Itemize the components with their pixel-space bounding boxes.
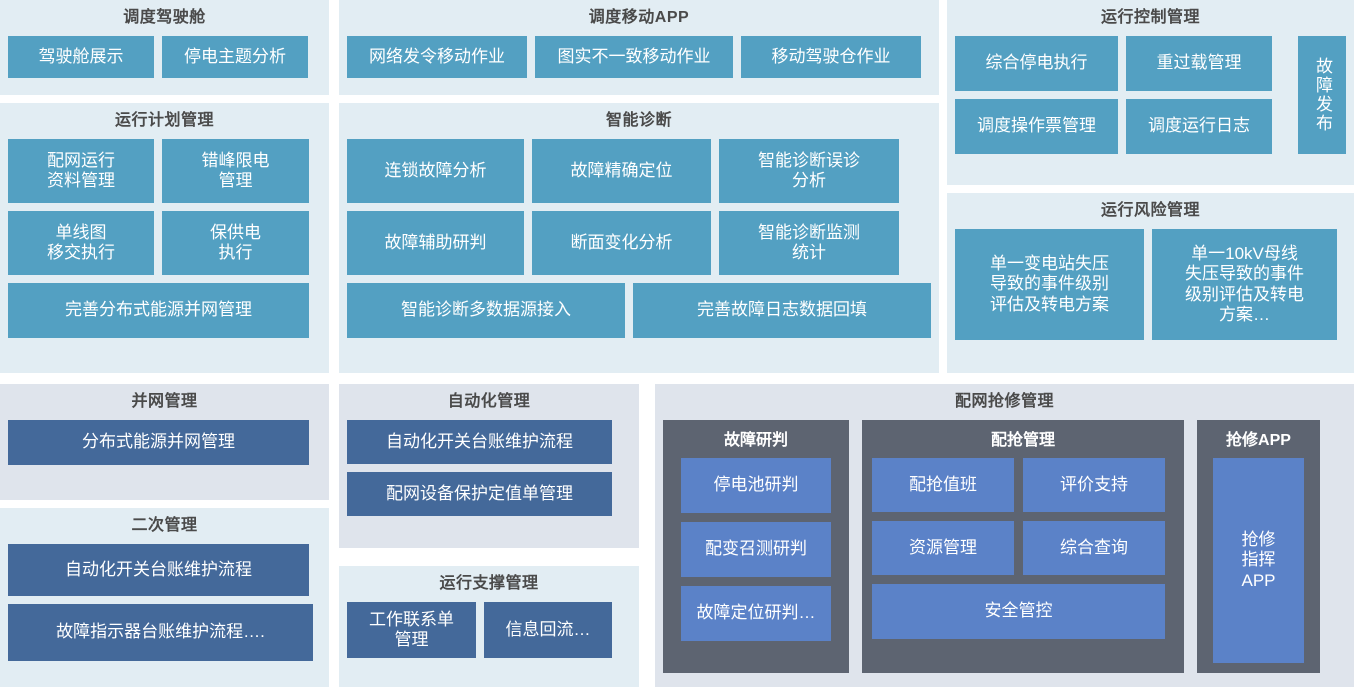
tile-guaranteed-power-execution[interactable]: 保供电 执行 bbox=[162, 211, 309, 275]
tile-precise-fault-location[interactable]: 故障精确定位 bbox=[532, 139, 711, 203]
panel-mobile-app: 调度移动APP 网络发令移动作业 图实不一致移动作业 移动驾驶仓作业 bbox=[339, 0, 939, 95]
tile-diagnosis-monitor-statistics[interactable]: 智能诊断监测 统计 bbox=[719, 211, 899, 275]
tile-automation-switch-ledger-flow[interactable]: 自动化开关台账维护流程 bbox=[8, 544, 309, 596]
tile-distributed-energy-grid-mgmt[interactable]: 分布式能源并网管理 bbox=[8, 420, 309, 465]
tile-row: 智能诊断多数据源接入 完善故障日志数据回填 bbox=[347, 283, 931, 338]
panel-distribution-repair: 配网抢修管理 故障研判 停电池研判 配变召测研判 故障定位研判… 配抢管理 配抢… bbox=[655, 384, 1354, 687]
panel-title-cockpit: 调度驾驶舱 bbox=[8, 6, 321, 30]
panel-title-operation-plan: 运行计划管理 bbox=[8, 109, 321, 133]
tile-info-backflow[interactable]: 信息回流… bbox=[484, 602, 612, 658]
tile-misdiagnosis-analysis[interactable]: 智能诊断误诊 分析 bbox=[719, 139, 899, 203]
panel-secondary-management: 二次管理 自动化开关台账维护流程 故障指示器台账维护流程…. bbox=[0, 508, 329, 687]
tile-work-contact-sheet-mgmt[interactable]: 工作联系单 管理 bbox=[347, 602, 476, 658]
tile-row: 配网运行 资料管理 错峰限电 管理 bbox=[8, 139, 321, 203]
panel-smart-diagnosis: 智能诊断 连锁故障分析 故障精确定位 智能诊断误诊 分析 故障辅助研判 断面变化… bbox=[339, 103, 939, 373]
tile-device-protection-setting-mgmt[interactable]: 配网设备保护定值单管理 bbox=[347, 472, 612, 516]
tile-fault-assist-judgement[interactable]: 故障辅助研判 bbox=[347, 211, 524, 275]
tile-single-line-diagram-handover[interactable]: 单线图 移交执行 bbox=[8, 211, 154, 275]
panel-title-secondary-management: 二次管理 bbox=[8, 514, 321, 538]
tile-outage-topic-analysis[interactable]: 停电主题分析 bbox=[162, 36, 308, 78]
tile-row: 故障指示器台账维护流程…. bbox=[8, 604, 321, 661]
tile-row: 故障辅助研判 断面变化分析 智能诊断监测 统计 bbox=[347, 211, 931, 275]
tile-substation-voltage-loss-assessment[interactable]: 单一变电站失压 导致的事件级别 评估及转电方案 bbox=[955, 229, 1144, 340]
tile-fault-location-judgement[interactable]: 故障定位研判… bbox=[681, 586, 831, 641]
tile-row: 单一变电站失压 导致的事件级别 评估及转电方案 单一10kV母线 失压导致的事件… bbox=[955, 229, 1346, 340]
tile-resource-management[interactable]: 资源管理 bbox=[872, 521, 1014, 575]
tile-row: 单线图 移交执行 保供电 执行 bbox=[8, 211, 321, 275]
panel-operation-control: 运行控制管理 综合停电执行 重过载管理 调度操作票管理 调度运行日志 故障发布 bbox=[947, 0, 1354, 185]
tile-repair-duty[interactable]: 配抢值班 bbox=[872, 458, 1014, 512]
subpanel-repair-dispatch: 配抢管理 配抢值班 评价支持 资源管理 综合查询 安全管控 bbox=[862, 420, 1184, 673]
tile-cascading-fault-analysis[interactable]: 连锁故障分析 bbox=[347, 139, 524, 203]
tile-row: 配抢值班 评价支持 bbox=[872, 458, 1174, 512]
tile-row: 分布式能源并网管理 bbox=[8, 420, 321, 465]
tile-row: 自动化开关台账维护流程 bbox=[8, 544, 321, 596]
tile-multi-datasource-access[interactable]: 智能诊断多数据源接入 bbox=[347, 283, 625, 338]
tile-network-dispatch-mobile[interactable]: 网络发令移动作业 bbox=[347, 36, 527, 78]
subpanel-title-repair-dispatch: 配抢管理 bbox=[872, 426, 1174, 450]
subpanel-repair-app: 抢修APP 抢修 指挥 APP bbox=[1197, 420, 1320, 673]
tile-fault-release[interactable]: 故障发布 bbox=[1298, 36, 1346, 154]
tile-grid-operation-data-mgmt[interactable]: 配网运行 资料管理 bbox=[8, 139, 154, 203]
tile-row: 安全管控 bbox=[872, 584, 1174, 639]
tile-mobile-cockpit-work[interactable]: 移动驾驶仓作业 bbox=[741, 36, 921, 78]
panel-operation-support: 运行支撑管理 工作联系单 管理 信息回流… bbox=[339, 566, 639, 687]
panel-automation-management: 自动化管理 自动化开关台账维护流程 配网设备保护定值单管理 bbox=[339, 384, 639, 548]
tile-row: 连锁故障分析 故障精确定位 智能诊断误诊 分析 bbox=[347, 139, 931, 203]
tile-row: 工作联系单 管理 信息回流… bbox=[347, 602, 631, 658]
tile-row: 资源管理 综合查询 bbox=[872, 521, 1174, 575]
tile-10kv-bus-voltage-loss-assessment[interactable]: 单一10kV母线 失压导致的事件 级别评估及转电 方案… bbox=[1152, 229, 1337, 340]
subpanel-title-fault-judgement: 故障研判 bbox=[673, 426, 839, 450]
tile-row: 驾驶舱展示 停电主题分析 bbox=[8, 36, 321, 78]
panel-title-smart-diagnosis: 智能诊断 bbox=[347, 109, 931, 133]
tile-improve-distributed-energy-grid-mgmt[interactable]: 完善分布式能源并网管理 bbox=[8, 283, 309, 338]
panel-operation-plan: 运行计划管理 配网运行 资料管理 错峰限电 管理 单线图 移交执行 保供电 执行… bbox=[0, 103, 329, 373]
tile-row: 自动化开关台账维护流程 bbox=[347, 420, 631, 464]
tile-row: 综合停电执行 重过载管理 bbox=[955, 36, 1290, 91]
tile-comprehensive-query[interactable]: 综合查询 bbox=[1023, 521, 1165, 575]
tile-fault-release-label: 故障发布 bbox=[1312, 57, 1332, 133]
tile-dispatch-operation-log[interactable]: 调度运行日志 bbox=[1126, 99, 1272, 154]
subpanel-fault-judgement: 故障研判 停电池研判 配变召测研判 故障定位研判… bbox=[663, 420, 849, 673]
tile-cockpit-display[interactable]: 驾驶舱展示 bbox=[8, 36, 154, 78]
tile-row: 网络发令移动作业 图实不一致移动作业 移动驾驶仓作业 bbox=[347, 36, 931, 78]
tile-row: 配网设备保护定值单管理 bbox=[347, 472, 631, 516]
tile-row: 完善分布式能源并网管理 bbox=[8, 283, 321, 338]
tile-dispatch-order-management[interactable]: 调度操作票管理 bbox=[955, 99, 1118, 154]
panel-title-automation-management: 自动化管理 bbox=[347, 390, 631, 414]
tile-integrated-outage-execution[interactable]: 综合停电执行 bbox=[955, 36, 1118, 91]
panel-title-operation-support: 运行支撑管理 bbox=[347, 572, 631, 596]
tile-overload-management[interactable]: 重过载管理 bbox=[1126, 36, 1272, 91]
tile-outage-pool-judgement[interactable]: 停电池研判 bbox=[681, 458, 831, 513]
panel-title-grid-connection: 并网管理 bbox=[8, 390, 321, 414]
tile-fault-indicator-ledger-flow[interactable]: 故障指示器台账维护流程…. bbox=[8, 604, 313, 661]
panel-title-operation-risk: 运行风险管理 bbox=[955, 199, 1346, 223]
tile-evaluation-support[interactable]: 评价支持 bbox=[1023, 458, 1165, 512]
panel-title-mobile-app: 调度移动APP bbox=[347, 6, 931, 30]
panel-title-operation-control: 运行控制管理 bbox=[955, 6, 1346, 30]
panel-title-distribution-repair: 配网抢修管理 bbox=[663, 390, 1346, 414]
tile-transformer-polling-judgement[interactable]: 配变召测研判 bbox=[681, 522, 831, 577]
tile-section-change-analysis[interactable]: 断面变化分析 bbox=[532, 211, 711, 275]
tile-peak-shaving-power-limit[interactable]: 错峰限电 管理 bbox=[162, 139, 309, 203]
tile-auto-switch-ledger-flow[interactable]: 自动化开关台账维护流程 bbox=[347, 420, 612, 464]
tile-safety-control[interactable]: 安全管控 bbox=[872, 584, 1165, 639]
tile-repair-command-app[interactable]: 抢修 指挥 APP bbox=[1213, 458, 1304, 663]
subpanel-title-repair-app: 抢修APP bbox=[1207, 426, 1310, 450]
tile-row: 调度操作票管理 调度运行日志 bbox=[955, 99, 1290, 154]
panel-operation-risk: 运行风险管理 单一变电站失压 导致的事件级别 评估及转电方案 单一10kV母线 … bbox=[947, 193, 1354, 373]
panel-cockpit: 调度驾驶舱 驾驶舱展示 停电主题分析 bbox=[0, 0, 329, 95]
panel-grid-connection: 并网管理 分布式能源并网管理 bbox=[0, 384, 329, 500]
tile-improve-fault-log-backfill[interactable]: 完善故障日志数据回填 bbox=[633, 283, 931, 338]
tile-map-mismatch-mobile[interactable]: 图实不一致移动作业 bbox=[535, 36, 733, 78]
